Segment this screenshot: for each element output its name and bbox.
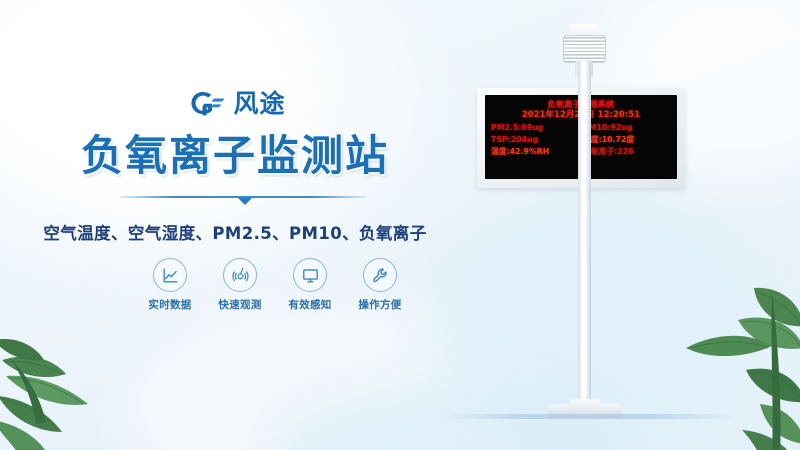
sensor-louvers xyxy=(563,35,606,63)
wind-route-logo-icon xyxy=(184,88,226,118)
title-divider xyxy=(0,192,470,206)
led-reading-tsp: TSP:204ug xyxy=(491,134,579,145)
led-reading-pm10: PM10:92ug xyxy=(583,122,671,133)
radar-scan-icon xyxy=(223,258,257,292)
brand-logo: 风途 xyxy=(0,88,470,118)
copy-block: 风途 负氧离子监测站 空气温度、空气湿度、PM2.5、PM10、负氧离子 实时数… xyxy=(0,0,470,450)
mounting-pole-icon xyxy=(578,60,591,412)
page-title: 负氧离子监测站 xyxy=(0,132,470,179)
feature-label: 操作方便 xyxy=(350,297,410,312)
wrench-icon xyxy=(363,258,397,292)
line-chart-icon xyxy=(153,258,187,292)
brand-name: 风途 xyxy=(233,91,285,116)
led-reading-humidity: 湿度:42.9%RH xyxy=(491,146,579,157)
led-reading-negative-ions: 负氧离子:226 xyxy=(583,146,671,157)
feature-item: 有效感知 xyxy=(280,258,340,312)
feature-label: 快速观测 xyxy=(210,297,270,312)
feature-item: 快速观测 xyxy=(210,258,270,312)
divider-triangle-icon xyxy=(238,198,252,205)
feature-item: 操作方便 xyxy=(350,258,410,312)
ground-line xyxy=(440,414,740,419)
promo-banner: 风途 负氧离子监测站 空气温度、空气湿度、PM2.5、PM10、负氧离子 实时数… xyxy=(0,0,800,450)
led-reading-temperature: 温度:10.72度 xyxy=(583,134,671,145)
feature-label: 有效感知 xyxy=(280,297,340,312)
led-reading-pm25: PM2.5:69ug xyxy=(491,122,579,133)
monitoring-station-device: 负氧离子监测系统 2021年12月22日 12:20:51 PM2.5:69ug… xyxy=(440,0,740,450)
feature-label: 实时数据 xyxy=(140,297,200,312)
monitor-icon xyxy=(293,258,327,292)
page-subtitle: 空气温度、空气湿度、PM2.5、PM10、负氧离子 xyxy=(0,220,470,244)
feature-item: 实时数据 xyxy=(140,258,200,312)
feature-list: 实时数据 快速观测 xyxy=(140,258,410,312)
